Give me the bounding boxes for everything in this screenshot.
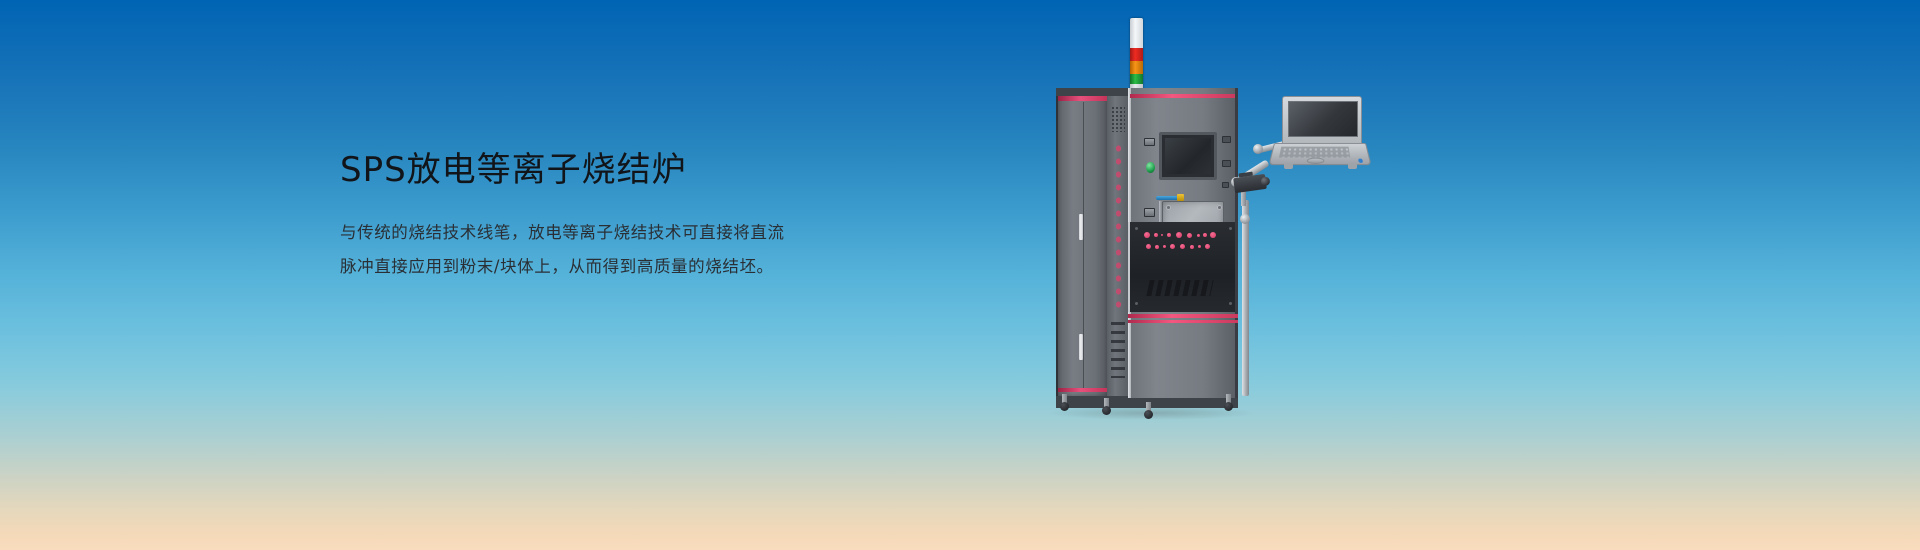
sps-furnace-illustration: 0.0 [1028,18,1368,438]
hero-banner: SPS放电等离子烧结炉 与传统的烧结技术线笔，放电等离子烧结技术可直接将直流 脉… [0,0,1920,550]
vent-slots [1111,322,1125,378]
panel-trim-top [1130,94,1235,98]
chamber-bolt-tl [1167,206,1170,209]
coolant-pipe-upper [1156,196,1178,200]
vent-indicator-column [1107,96,1129,396]
hmi-touchscreen[interactable] [1159,132,1217,180]
indicator-led-array [1113,142,1124,312]
stack-light-tower [1130,18,1143,90]
control-button-4[interactable] [1222,182,1229,188]
laptop-trackpad[interactable] [1307,158,1325,164]
caster-3 [1144,402,1153,420]
control-button-5[interactable] [1144,208,1155,217]
stack-light-amber [1130,61,1143,74]
laptop-base [1268,143,1371,165]
cabinet-top-trim [1058,96,1108,101]
arm-joint-2 [1253,144,1263,154]
laptop-foot-left [1284,164,1293,169]
green-indicator-light [1146,162,1155,173]
laptop-keyboard[interactable] [1279,147,1350,158]
page-title: SPS放电等离子烧结炉 [340,148,900,192]
control-button-2[interactable] [1222,136,1231,143]
laptop-computer[interactable] [1274,96,1366,172]
laptop-screen [1288,101,1358,137]
left-cabinet [1056,96,1108,396]
stack-light-green [1130,74,1143,84]
lower-panel [1128,222,1238,312]
stack-light-white [1130,18,1143,48]
perforated-vent-icon [1111,106,1125,132]
stack-light-red [1130,48,1143,61]
caster-1 [1060,394,1069,412]
description-line-2: 脉冲直接应用到粉末/块体上，从而得到高质量的烧结坯。 [340,250,900,284]
control-button-3[interactable] [1222,160,1231,167]
banner-text-block: SPS放电等离子烧结炉 与传统的烧结技术线笔，放电等离子烧结技术可直接将直流 脉… [340,148,900,284]
camera-icon [1233,174,1267,193]
cabinet-door-split [1083,102,1084,390]
base-trim-lower [1128,320,1238,323]
caster-2 [1102,398,1111,416]
cabinet-bottom-trim [1058,388,1108,392]
lower-screw-bl [1135,302,1138,305]
lower-screw-tl [1135,227,1138,230]
description-line-1: 与传统的烧结技术线笔，放电等离子烧结技术可直接将直流 [340,216,900,250]
base-trim-upper [1128,314,1238,318]
arm-joint-3 [1240,214,1250,224]
arm-vertical-post [1242,200,1249,396]
lower-vent-grille [1146,280,1213,296]
laptop-lid [1282,96,1362,144]
lower-screw-br [1229,302,1232,305]
chamber-bolt-tr [1218,206,1221,209]
caster-4 [1224,394,1233,412]
pipe-fitting-upper [1177,194,1184,201]
control-button-1[interactable] [1144,138,1155,146]
laptop-foot-right [1348,164,1357,169]
cabinet-handle-upper [1079,214,1083,240]
laptop-power-led [1358,159,1363,163]
camera-lens-icon [1260,176,1270,186]
camera-mount [1241,190,1246,206]
pink-dot-array [1144,232,1216,254]
lower-screw-tr [1229,227,1232,230]
cabinet-handle-lower [1079,334,1083,360]
banner-description: 与传统的烧结技术线笔，放电等离子烧结技术可直接将直流 脉冲直接应用到粉末/块体上… [340,216,900,284]
